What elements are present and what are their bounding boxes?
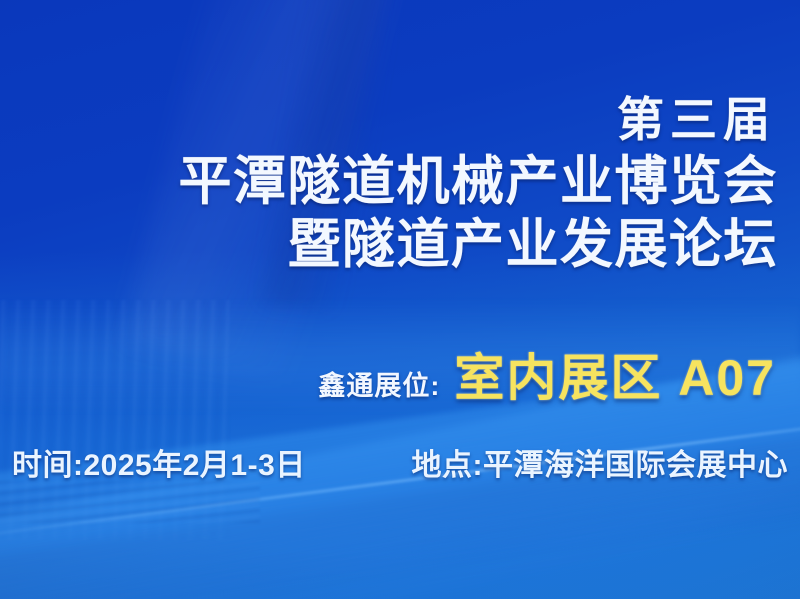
event-venue: 地点:平潭海洋国际会展中心 xyxy=(412,440,789,484)
title-line-main: 平潭隧道机械产业博览会 xyxy=(179,155,779,208)
booth-number: 室内展区 A07 xyxy=(454,338,776,410)
event-title: 第三届 平潭隧道机械产业博览会 暨隧道产业发展论坛 xyxy=(179,96,779,281)
poster-content: 第三届 平潭隧道机械产业博览会 暨隧道产业发展论坛 鑫通展位: 室内展区 A07… xyxy=(0,0,800,599)
booth-label: 鑫通展位: xyxy=(318,364,440,403)
title-line-forum: 暨隧道产业发展论坛 xyxy=(179,218,779,271)
title-line-edition: 第三届 xyxy=(179,96,779,143)
event-meta: 时间:2025年2月1-3日 地点:平潭海洋国际会展中心 xyxy=(12,440,788,484)
event-date: 时间:2025年2月1-3日 xyxy=(12,440,306,484)
exhibition-poster: 第三届 平潭隧道机械产业博览会 暨隧道产业发展论坛 鑫通展位: 室内展区 A07… xyxy=(0,0,800,599)
booth-info: 鑫通展位: 室内展区 A07 xyxy=(318,338,776,410)
